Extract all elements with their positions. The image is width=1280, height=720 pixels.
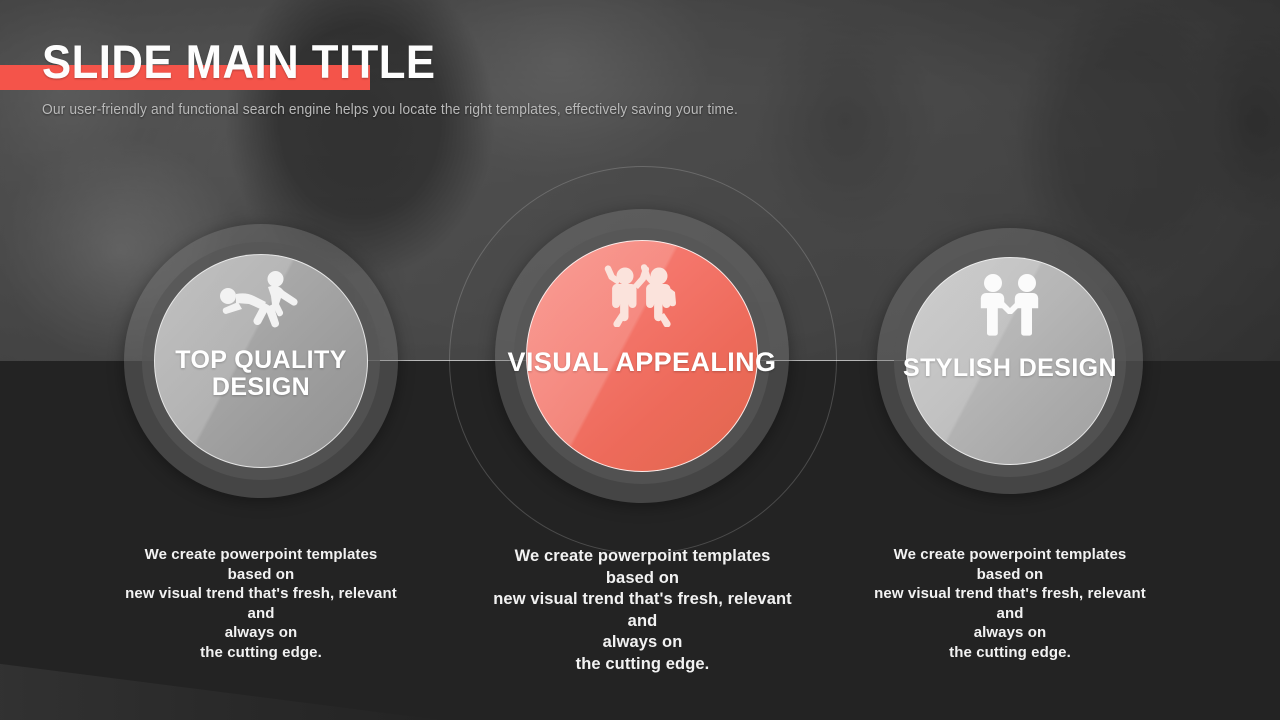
node-description: We create powerpoint templates based on … bbox=[490, 546, 795, 675]
high-five-celebration-icon bbox=[596, 261, 688, 332]
node-label: STYLISH DESIGN bbox=[903, 355, 1117, 382]
node-description: We create powerpoint templates based on … bbox=[121, 545, 401, 662]
node-label: TOP QUALITY DESIGN bbox=[124, 347, 398, 401]
title-block: SLIDE MAIN TITLE bbox=[0, 36, 760, 98]
handshake-icon bbox=[975, 272, 1045, 341]
feature-node-visual-appealing[interactable]: VISUAL APPEALING bbox=[495, 209, 789, 503]
feature-node-stylish-design[interactable]: STYLISH DESIGN bbox=[877, 228, 1143, 494]
page-title: SLIDE MAIN TITLE bbox=[42, 36, 436, 88]
presentation-slide: SLIDE MAIN TITLE Our user-friendly and f… bbox=[0, 0, 1280, 720]
rescue-carry-icon bbox=[218, 270, 304, 333]
feature-node-top-quality-design[interactable]: TOP QUALITY DESIGN bbox=[124, 224, 398, 498]
node-label: VISUAL APPEALING bbox=[508, 348, 777, 377]
node-description: We create powerpoint templates based on … bbox=[872, 545, 1148, 662]
page-subtitle: Our user-friendly and functional search … bbox=[42, 101, 738, 119]
